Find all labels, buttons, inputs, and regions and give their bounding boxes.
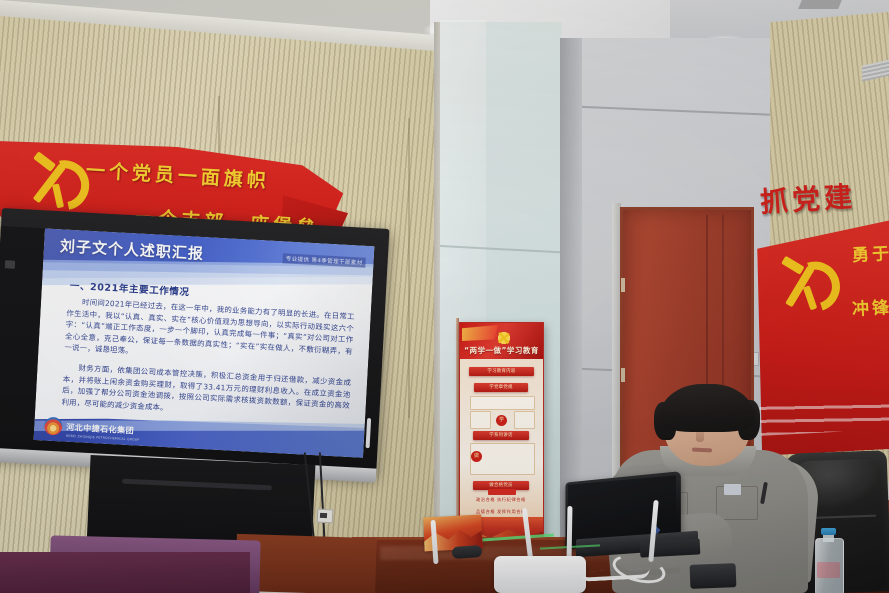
glass-mullion xyxy=(434,22,440,542)
poster-badge-xue: 学 xyxy=(496,415,507,426)
tv-side-icon xyxy=(5,260,15,269)
banner-right-title: 抓党建 xyxy=(759,175,857,221)
slide-paragraph-1: 时间间2021年已经过去，在这一年中，我的业务能力有了明显的长进。在日常工作生活… xyxy=(64,296,355,369)
banner-right-word-1: 勇于 xyxy=(851,239,889,266)
wifi-router[interactable] xyxy=(494,556,586,593)
poster-tag-a xyxy=(488,489,516,495)
poster-mini-row-2: 品德合格 发挥作用合格 xyxy=(476,509,526,515)
wall-grey-column xyxy=(560,38,582,543)
mouse-device[interactable] xyxy=(452,545,483,559)
door-hinge-lower xyxy=(621,368,625,382)
name-badge xyxy=(724,484,741,495)
poster-title: “两学一做”学习教育 xyxy=(460,345,543,356)
person-hair xyxy=(658,384,756,432)
banner-right-word-2: 冲锋 xyxy=(851,293,889,320)
door-hinge-upper xyxy=(621,278,625,292)
wall-left-seam-2 xyxy=(408,118,410,418)
plug-icon xyxy=(320,513,327,518)
water-bottle[interactable] xyxy=(815,528,842,593)
company-logo-mark-icon xyxy=(44,416,63,435)
poster-card-1 xyxy=(470,396,535,410)
hammer-and-sickle-icon xyxy=(24,154,87,215)
interactive-flat-panel[interactable]: 刘子文个人述职汇报 专业提供 第4季管理干部素材 一、2021年主要工作情况 时… xyxy=(0,208,389,491)
presentation-slide: 刘子文个人述职汇报 专业提供 第4季管理干部素材 一、2021年主要工作情况 时… xyxy=(33,228,374,458)
conference-room-photo: 一个党员一面旗帜 一个支部一座堡垒 抓党建 勇于 冲锋 刘子文个人述职汇报 专业… xyxy=(0,0,889,593)
poster-card-3 xyxy=(514,411,535,429)
tv-screen[interactable]: 刘子文个人述职汇报 专业提供 第4季管理干部素材 一、2021年主要工作情况 时… xyxy=(33,228,374,458)
poster-ribbon-1: 学习教育内容 xyxy=(469,367,534,376)
bottle-cap xyxy=(821,528,836,535)
power-adapter xyxy=(690,563,737,589)
foreground-desk xyxy=(0,552,250,593)
router-antenna-2 xyxy=(567,506,573,560)
poster-card-2 xyxy=(470,411,491,429)
poster-badge-zuo: 做 xyxy=(471,451,482,462)
poster-mini-row-1: 政治合格 执行纪律合格 xyxy=(476,497,526,503)
bottle-label xyxy=(817,562,840,578)
hammer-and-sickle-icon-right xyxy=(775,256,840,317)
poster-ribbon-3: 学系列讲话 xyxy=(473,431,529,440)
air-vent-icon xyxy=(798,0,842,9)
slide-paragraph-2: 财务方面，依集团公司成本管控决策，积极汇总资金用于归还借款，减少资金成本，并将账… xyxy=(61,362,351,424)
poster-ribbon-2: 学党章党规 xyxy=(474,383,528,392)
